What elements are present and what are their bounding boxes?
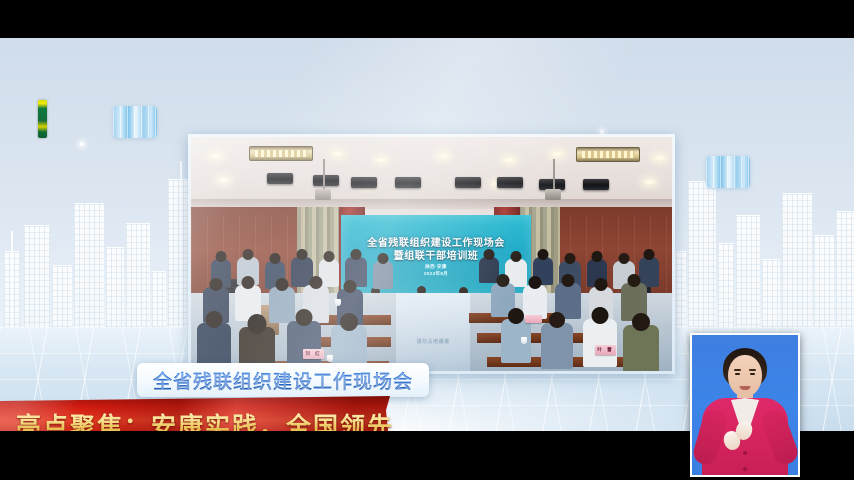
stage-spotlight [497, 177, 523, 188]
stage-spotlight [583, 179, 609, 190]
water-cup [327, 355, 333, 362]
projector-rod [553, 159, 555, 189]
name-placard-right-text: 叶 蕾 [595, 347, 616, 353]
ceiling-panel-light-left [249, 146, 313, 161]
stage-spotlight [313, 175, 339, 186]
name-placard-right: 叶 蕾 [595, 345, 616, 355]
name-placard-left: 刘 红 [303, 349, 324, 359]
screen-title-line2: 暨组联干部培训班 [341, 247, 531, 262]
audience-person [373, 261, 393, 289]
sparkle-1 [80, 142, 84, 146]
lower-third-title-text: 全省残联组织建设工作现场会 [153, 367, 413, 394]
center-aisle: 请勿占用通道 [396, 293, 470, 371]
conference-photo: 全省残联组织建设工作现场会 暨组联干部培训班 陕西·安康 2024年8月 [188, 134, 675, 374]
name-placard [525, 315, 542, 323]
lower-third-headline-text: 亮点聚焦：安康实践，全国领先 [16, 407, 394, 431]
name-placard-left-text: 刘 红 [303, 351, 324, 357]
audience-person [583, 319, 617, 367]
downlight [653, 155, 666, 161]
stage-spotlight [267, 173, 293, 184]
audience-person [269, 287, 295, 323]
audience-person [623, 325, 659, 371]
downlight [643, 179, 656, 185]
stage-spotlight [455, 177, 481, 188]
projector-rod [323, 159, 325, 189]
audience-person [541, 323, 573, 369]
water-cup [335, 299, 341, 306]
stage-spotlight [395, 177, 421, 188]
water-cup [521, 337, 527, 344]
sign-language-inset [690, 333, 800, 477]
audience-person [287, 321, 321, 369]
downlight [437, 153, 450, 159]
ceiling-panel-light-right [576, 147, 640, 162]
decor-tile-right [706, 156, 750, 188]
stage-spotlight [351, 177, 377, 188]
audience-person [523, 285, 547, 319]
letterbox-top [0, 0, 854, 38]
downlight [331, 151, 344, 157]
downlight [209, 153, 222, 159]
downlight [551, 151, 564, 157]
downlight [375, 157, 388, 163]
downlight [217, 177, 230, 183]
downlight [503, 157, 516, 163]
interpreter-button [743, 451, 747, 455]
ceiling-projector [545, 189, 561, 200]
decor-tile-left [113, 106, 157, 138]
broadcast-screen: 全省残联组织建设工作现场会 暨组联干部培训班 陕西·安康 2024年8月 [0, 0, 854, 480]
screen-subtitle-location: 陕西·安康 [341, 264, 531, 270]
ceiling-projector [315, 189, 331, 200]
lower-third-title-banner: 全省残联组织建设工作现场会 [137, 363, 429, 397]
channel-logo-icon [38, 100, 47, 138]
interpreter-button [743, 467, 747, 471]
sign-language-video [692, 335, 798, 475]
aisle-floor-text: 请勿占用通道 [396, 338, 470, 345]
